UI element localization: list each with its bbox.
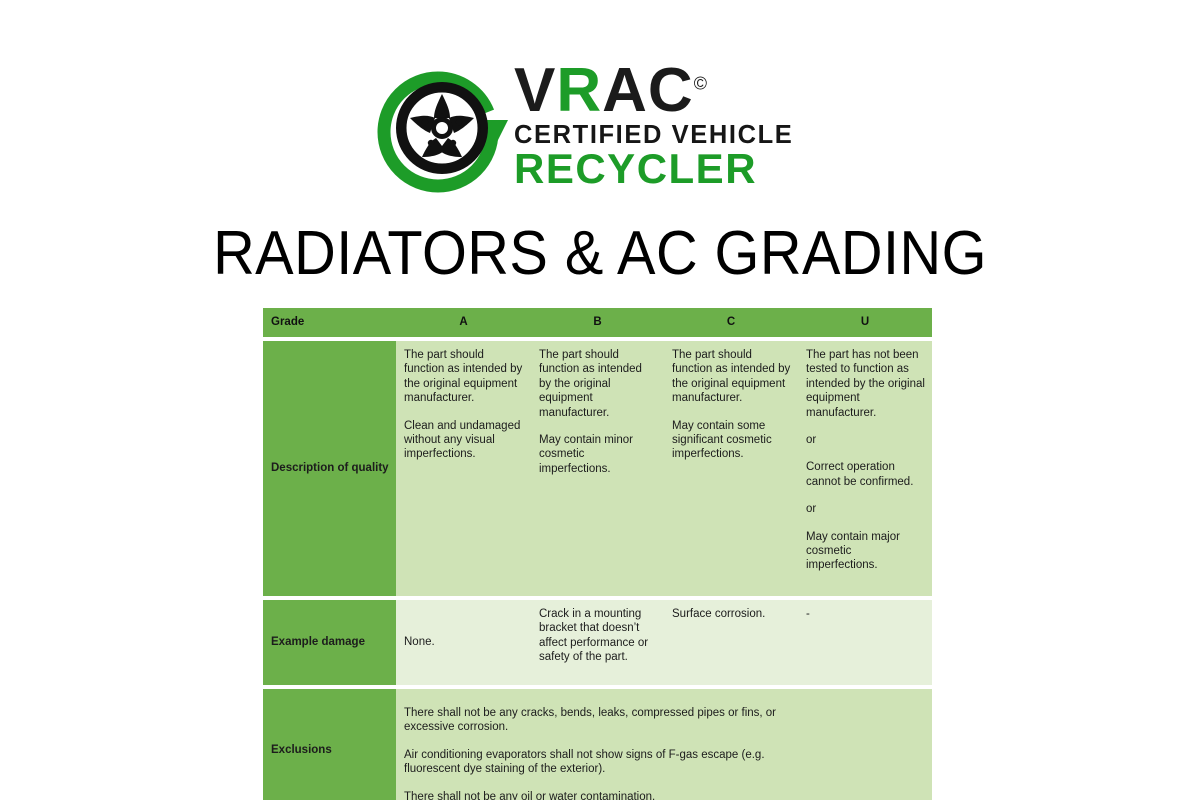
cell-paras: Crack in a mounting bracket that doesn’t… bbox=[539, 607, 657, 665]
cell-exclusions-merged: There shall not be any cracks, bends, le… bbox=[396, 689, 798, 800]
cell-paragraph: or bbox=[806, 502, 925, 516]
cell-paragraph: May contain major cosmetic imperfections… bbox=[806, 530, 925, 573]
row-label-example-damage: Example damage bbox=[263, 600, 396, 685]
cell-paras: The part should function as intended by … bbox=[404, 348, 524, 462]
page-root: VRAC© CERTIFIED VEHICLE RECYCLER RADIATO… bbox=[0, 0, 1200, 800]
logo-tagline-bottom: RECYCLER bbox=[514, 147, 757, 191]
cell-paragraph: or bbox=[806, 433, 925, 447]
cell-paras: The part should function as intended by … bbox=[539, 348, 657, 476]
cell-paragraph: Surface corrosion. bbox=[672, 607, 791, 621]
copyright-icon: © bbox=[694, 73, 707, 93]
cell-example-b: Crack in a mounting bracket that doesn’t… bbox=[531, 600, 664, 685]
logo-wordmark: VRAC© CERTIFIED VEHICLE RECYCLER bbox=[508, 58, 836, 191]
logo-brand-text: VRAC© bbox=[514, 62, 707, 120]
header-grade-b: B bbox=[531, 308, 664, 337]
cell-paras: There shall not be any cracks, bends, le… bbox=[404, 696, 791, 800]
vrac-logo: VRAC© CERTIFIED VEHICLE RECYCLER bbox=[376, 58, 836, 198]
table-row: Description of quality The part should f… bbox=[263, 341, 932, 596]
wheel-recycle-icon bbox=[376, 58, 508, 198]
cell-description-b: The part should function as intended by … bbox=[531, 341, 664, 596]
cell-description-u: The part has not been tested to function… bbox=[798, 341, 932, 596]
header-grade-u: U bbox=[798, 308, 932, 337]
table-row: Example damage None. Crack in a mounting… bbox=[263, 600, 932, 685]
cell-paras: The part should function as intended by … bbox=[672, 348, 791, 462]
row-label-exclusions: Exclusions bbox=[263, 689, 396, 800]
header-grade: Grade bbox=[263, 308, 396, 337]
cell-paragraph: The part should function as intended by … bbox=[539, 348, 657, 420]
cell-paragraph: Clean and undamaged without any visual i… bbox=[404, 419, 524, 462]
table-row: Exclusions There shall not be any cracks… bbox=[263, 689, 932, 800]
cell-example-c: Surface corrosion. bbox=[664, 600, 798, 685]
cell-paras: None. bbox=[404, 607, 524, 649]
cell-example-u: - bbox=[798, 600, 932, 685]
cell-paragraph: May contain some significant cosmetic im… bbox=[672, 419, 791, 462]
row-label-description: Description of quality bbox=[263, 341, 396, 596]
cell-paras: - bbox=[806, 607, 925, 621]
cell-paragraph: May contain minor cosmetic imperfections… bbox=[539, 433, 657, 476]
cell-paras: The part has not been tested to function… bbox=[806, 348, 925, 573]
header-grade-c: C bbox=[664, 308, 798, 337]
cell-paragraph: The part has not been tested to function… bbox=[806, 348, 925, 420]
cell-paragraph: The part should function as intended by … bbox=[672, 348, 791, 406]
cell-paragraph: There shall not be any oil or water cont… bbox=[404, 790, 791, 800]
header-grade-a: A bbox=[396, 308, 531, 337]
table-header-row: Grade A B C U bbox=[263, 308, 932, 337]
cell-paras: Surface corrosion. bbox=[672, 607, 791, 621]
cell-paragraph: Correct operation cannot be confirmed. bbox=[806, 460, 925, 489]
cell-description-c: The part should function as intended by … bbox=[664, 341, 798, 596]
cell-paragraph: The part should function as intended by … bbox=[404, 348, 524, 406]
cell-exclusions-u bbox=[798, 689, 932, 800]
grading-table: Grade A B C U Description of quality The… bbox=[263, 308, 932, 800]
page-title: RADIATORS & AC GRADING bbox=[42, 218, 1158, 290]
cell-description-a: The part should function as intended by … bbox=[396, 341, 531, 596]
cell-paragraph: Air conditioning evaporators shall not s… bbox=[404, 748, 791, 777]
cell-paragraph: There shall not be any cracks, bends, le… bbox=[404, 706, 791, 735]
cell-paragraph: - bbox=[806, 607, 925, 621]
cell-paragraph: None. bbox=[404, 635, 524, 649]
cell-example-a: None. bbox=[396, 600, 531, 685]
cell-paragraph: Crack in a mounting bracket that doesn’t… bbox=[539, 607, 657, 665]
